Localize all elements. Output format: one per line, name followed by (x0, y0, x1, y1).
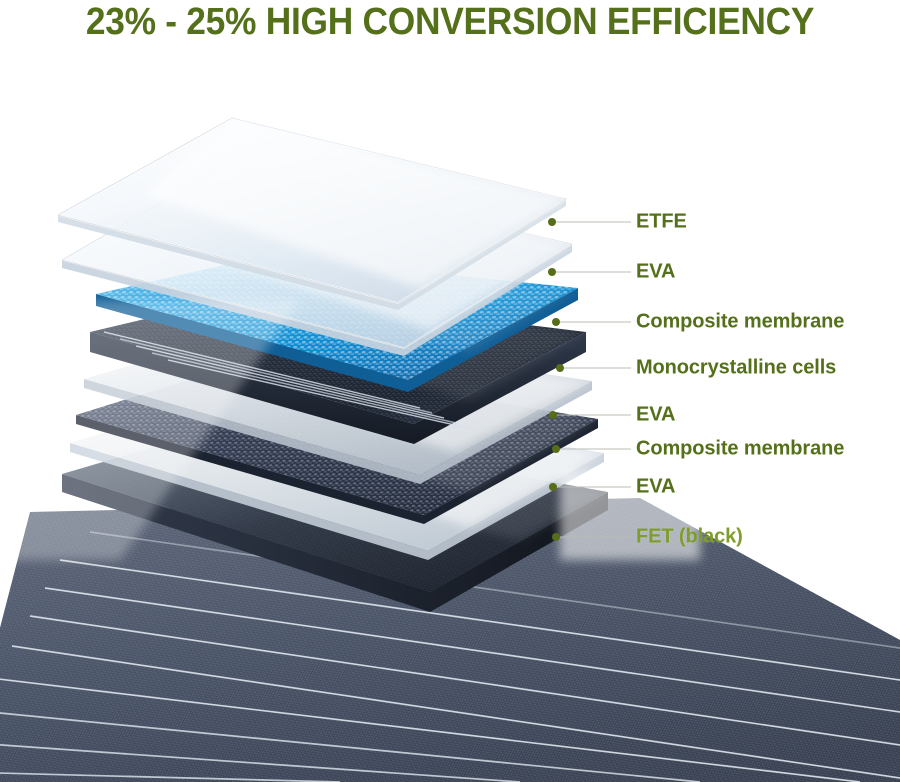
exploded-layer-illustration (0, 0, 900, 782)
solar-layer-infographic: 23% - 25% HIGH CONVERSION EFFICIENCY (0, 0, 900, 782)
